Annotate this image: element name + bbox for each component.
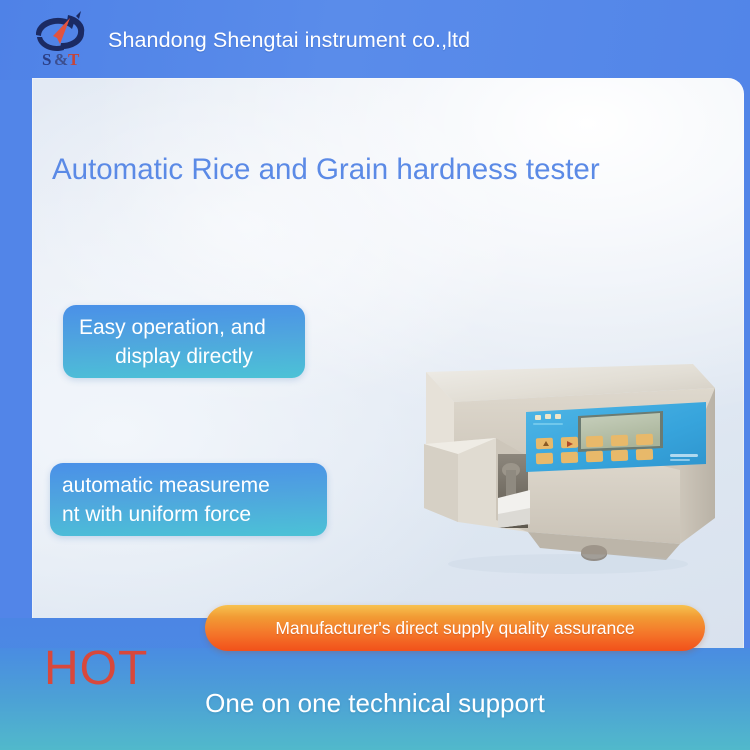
header: S & T Shandong Shengtai instrument co.,l… <box>0 0 750 80</box>
support-text: One on one technical support <box>0 686 750 720</box>
shengtai-logo: S & T <box>24 9 98 71</box>
feature-badge-easy-operation: Easy operation, and display directly <box>63 305 305 378</box>
company-name: Shandong Shengtai instrument co.,ltd <box>108 27 470 54</box>
feature-badge-line: display directly <box>79 342 289 371</box>
promo-banner: Manufacturer's direct supply quality ass… <box>205 605 705 651</box>
feature-badge-line: Easy operation, and <box>79 313 289 342</box>
product-marketing-banner: S & T Shandong Shengtai instrument co.,l… <box>0 0 750 750</box>
feature-badge-line: automatic measureme <box>62 471 315 500</box>
page-title: Automatic Rice and Grain hardness tester <box>52 150 712 190</box>
product-image-hardness-tester <box>418 358 723 588</box>
feature-badge-line: nt with uniform force <box>62 500 315 529</box>
feature-badge-uniform-force: automatic measureme nt with uniform forc… <box>50 463 327 536</box>
promo-banner-text: Manufacturer's direct supply quality ass… <box>275 617 634 639</box>
svg-text:S: S <box>42 50 51 69</box>
svg-text:&: & <box>54 50 68 69</box>
svg-text:T: T <box>68 50 80 69</box>
